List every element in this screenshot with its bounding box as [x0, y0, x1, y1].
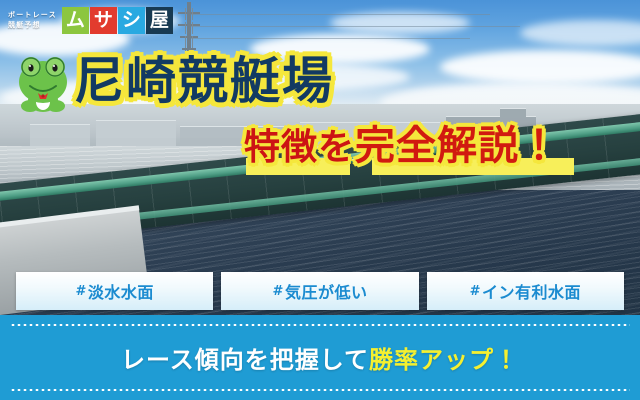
hero-title-text: 尼崎競艇場 [74, 52, 334, 110]
logo-subtitle-line1: ボートレース [8, 12, 57, 19]
power-line [190, 38, 470, 39]
logo-subtitle: ボートレース 競艇予想 [8, 12, 57, 29]
hash-icon: # [75, 284, 86, 299]
tag-label-1: 淡水水面 [88, 279, 154, 303]
power-line [190, 26, 520, 27]
logo-characters: ム サ シ 屋 [62, 7, 173, 34]
hero-subtitle-part2: 完全解説！ [355, 123, 560, 169]
hero-title: 尼崎競艇場 [74, 56, 334, 106]
bottom-banner: レース傾向を把握して勝率アップ！ [0, 315, 640, 400]
banner-text-white: レース傾向を把握して [121, 346, 369, 374]
banner-text: レース傾向を把握して勝率アップ！ [121, 340, 519, 375]
hero-subtitle-part1: 特徴を [244, 127, 355, 168]
logo-char-4: 屋 [146, 7, 173, 34]
hash-icon: # [470, 284, 481, 299]
power-line [190, 14, 490, 15]
tag-pill-2[interactable]: #気圧が低い [221, 272, 418, 310]
tag-label-2: 気圧が低い [285, 279, 368, 303]
frog-mascot-icon [14, 52, 72, 114]
logo-char-3: シ [118, 7, 145, 34]
tag-pill-3[interactable]: #イン有利水面 [427, 272, 624, 310]
site-logo[interactable]: ボートレース 競艇予想 ム サ シ 屋 [8, 7, 173, 34]
hero-subtitle: 特徴を完全解説！ [244, 126, 560, 166]
logo-char-2: サ [90, 7, 117, 34]
logo-subtitle-line2: 競艇予想 [8, 22, 57, 29]
hash-icon: # [273, 284, 284, 299]
tag-list: #淡水水面 #気圧が低い #イン有利水面 [16, 272, 624, 310]
banner-text-highlight: 勝率アップ！ [369, 346, 519, 374]
cloud [330, 12, 470, 34]
logo-char-1: ム [62, 7, 89, 34]
tag-label-3: イン有利水面 [482, 279, 581, 303]
tag-pill-1[interactable]: #淡水水面 [16, 272, 213, 310]
hero-graphic: ボートレース 競艇予想 ム サ シ 屋 [0, 0, 640, 400]
